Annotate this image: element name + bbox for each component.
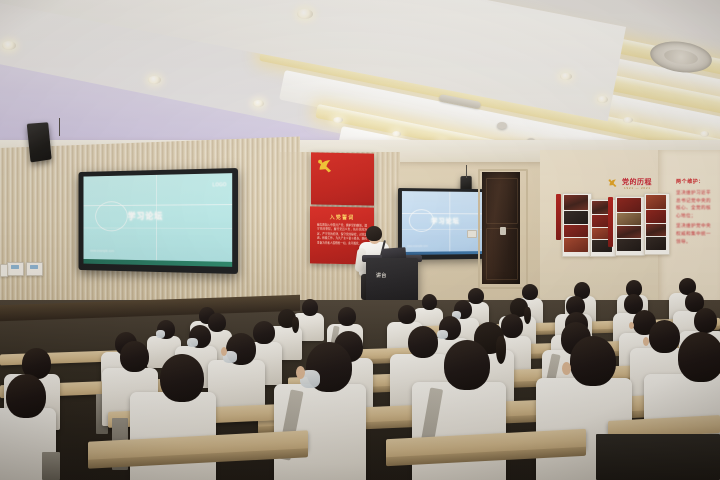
oath-heading: 入党誓词 — [310, 213, 374, 221]
recessed-downlight — [333, 117, 343, 123]
cpc-red-banner-upper — [311, 152, 374, 205]
sprinkler-icon — [497, 122, 507, 129]
slogan-line: 核心、全党的核 — [676, 204, 716, 212]
wall-outlet[interactable] — [7, 262, 24, 276]
light-switch-panel[interactable] — [467, 230, 477, 238]
auditorium-photograph: 学习论坛 LOGO www.example.com 学习论坛 www.examp… — [0, 0, 720, 480]
slogan-panel: 两个维护： 坚决维护习近平 总书记党中央的 核心、全党的核 心地位； 坚决维护党… — [676, 178, 716, 245]
right-slide-url: www.example.com — [407, 245, 428, 248]
left-slide-url: www.example.com — [90, 249, 114, 253]
slide-circle-decoration — [95, 201, 128, 231]
photo-wall-subtitle: 1921 — 2021 — [624, 186, 651, 190]
right-slide-title: 学习论坛 — [431, 215, 460, 225]
desk-front-panel — [596, 434, 720, 480]
recessed-downlight — [148, 76, 161, 84]
slogan-line: 坚决维护习近平 — [676, 189, 716, 197]
hammer-and-sickle-icon — [317, 157, 337, 175]
slogan-title: 两个维护： — [676, 178, 716, 185]
slogan-line: 总书记党中央的 — [676, 197, 716, 205]
slogan-line: 权威和集中统一 — [676, 230, 716, 238]
recessed-downlight — [392, 131, 401, 137]
recessed-downlight — [597, 96, 608, 103]
desk-side-panel — [42, 452, 60, 480]
left-slide-title: 学习论坛 — [128, 209, 163, 222]
photo-frame — [615, 196, 645, 256]
slogan-line: 领导。 — [676, 238, 716, 246]
recessed-downlight — [560, 73, 572, 80]
presenter-hair — [366, 226, 382, 241]
wall-speaker-icon — [27, 122, 52, 162]
vertical-red-banner — [608, 197, 613, 247]
recessed-downlight — [2, 41, 16, 50]
photo-frame — [562, 193, 592, 257]
recessed-downlight — [700, 131, 709, 137]
wall-outlet[interactable] — [0, 264, 8, 277]
lectern: 讲台 — [366, 258, 418, 306]
vertical-red-banner — [556, 194, 561, 240]
recessed-downlight — [253, 100, 264, 107]
left-display-slide: 学习论坛 LOGO www.example.com — [83, 173, 232, 267]
photo-frame — [644, 193, 670, 255]
left-slide-logo: LOGO — [212, 182, 226, 188]
slogan-line: 心地位； — [676, 212, 716, 220]
room-door[interactable] — [482, 172, 520, 284]
lectern-label: 讲台 — [376, 272, 387, 279]
left-display-screen[interactable]: 学习论坛 LOGO www.example.com — [78, 168, 238, 274]
slogan-line: 坚决维护党中央 — [676, 222, 716, 230]
recessed-downlight — [297, 9, 313, 19]
wall-outlet[interactable] — [26, 262, 43, 276]
speaker-cable — [59, 118, 60, 136]
gold-party-emblem-icon — [608, 178, 620, 189]
recessed-downlight — [623, 117, 633, 123]
speaker-cable — [466, 165, 467, 178]
door-handle-plate[interactable] — [500, 227, 506, 235]
